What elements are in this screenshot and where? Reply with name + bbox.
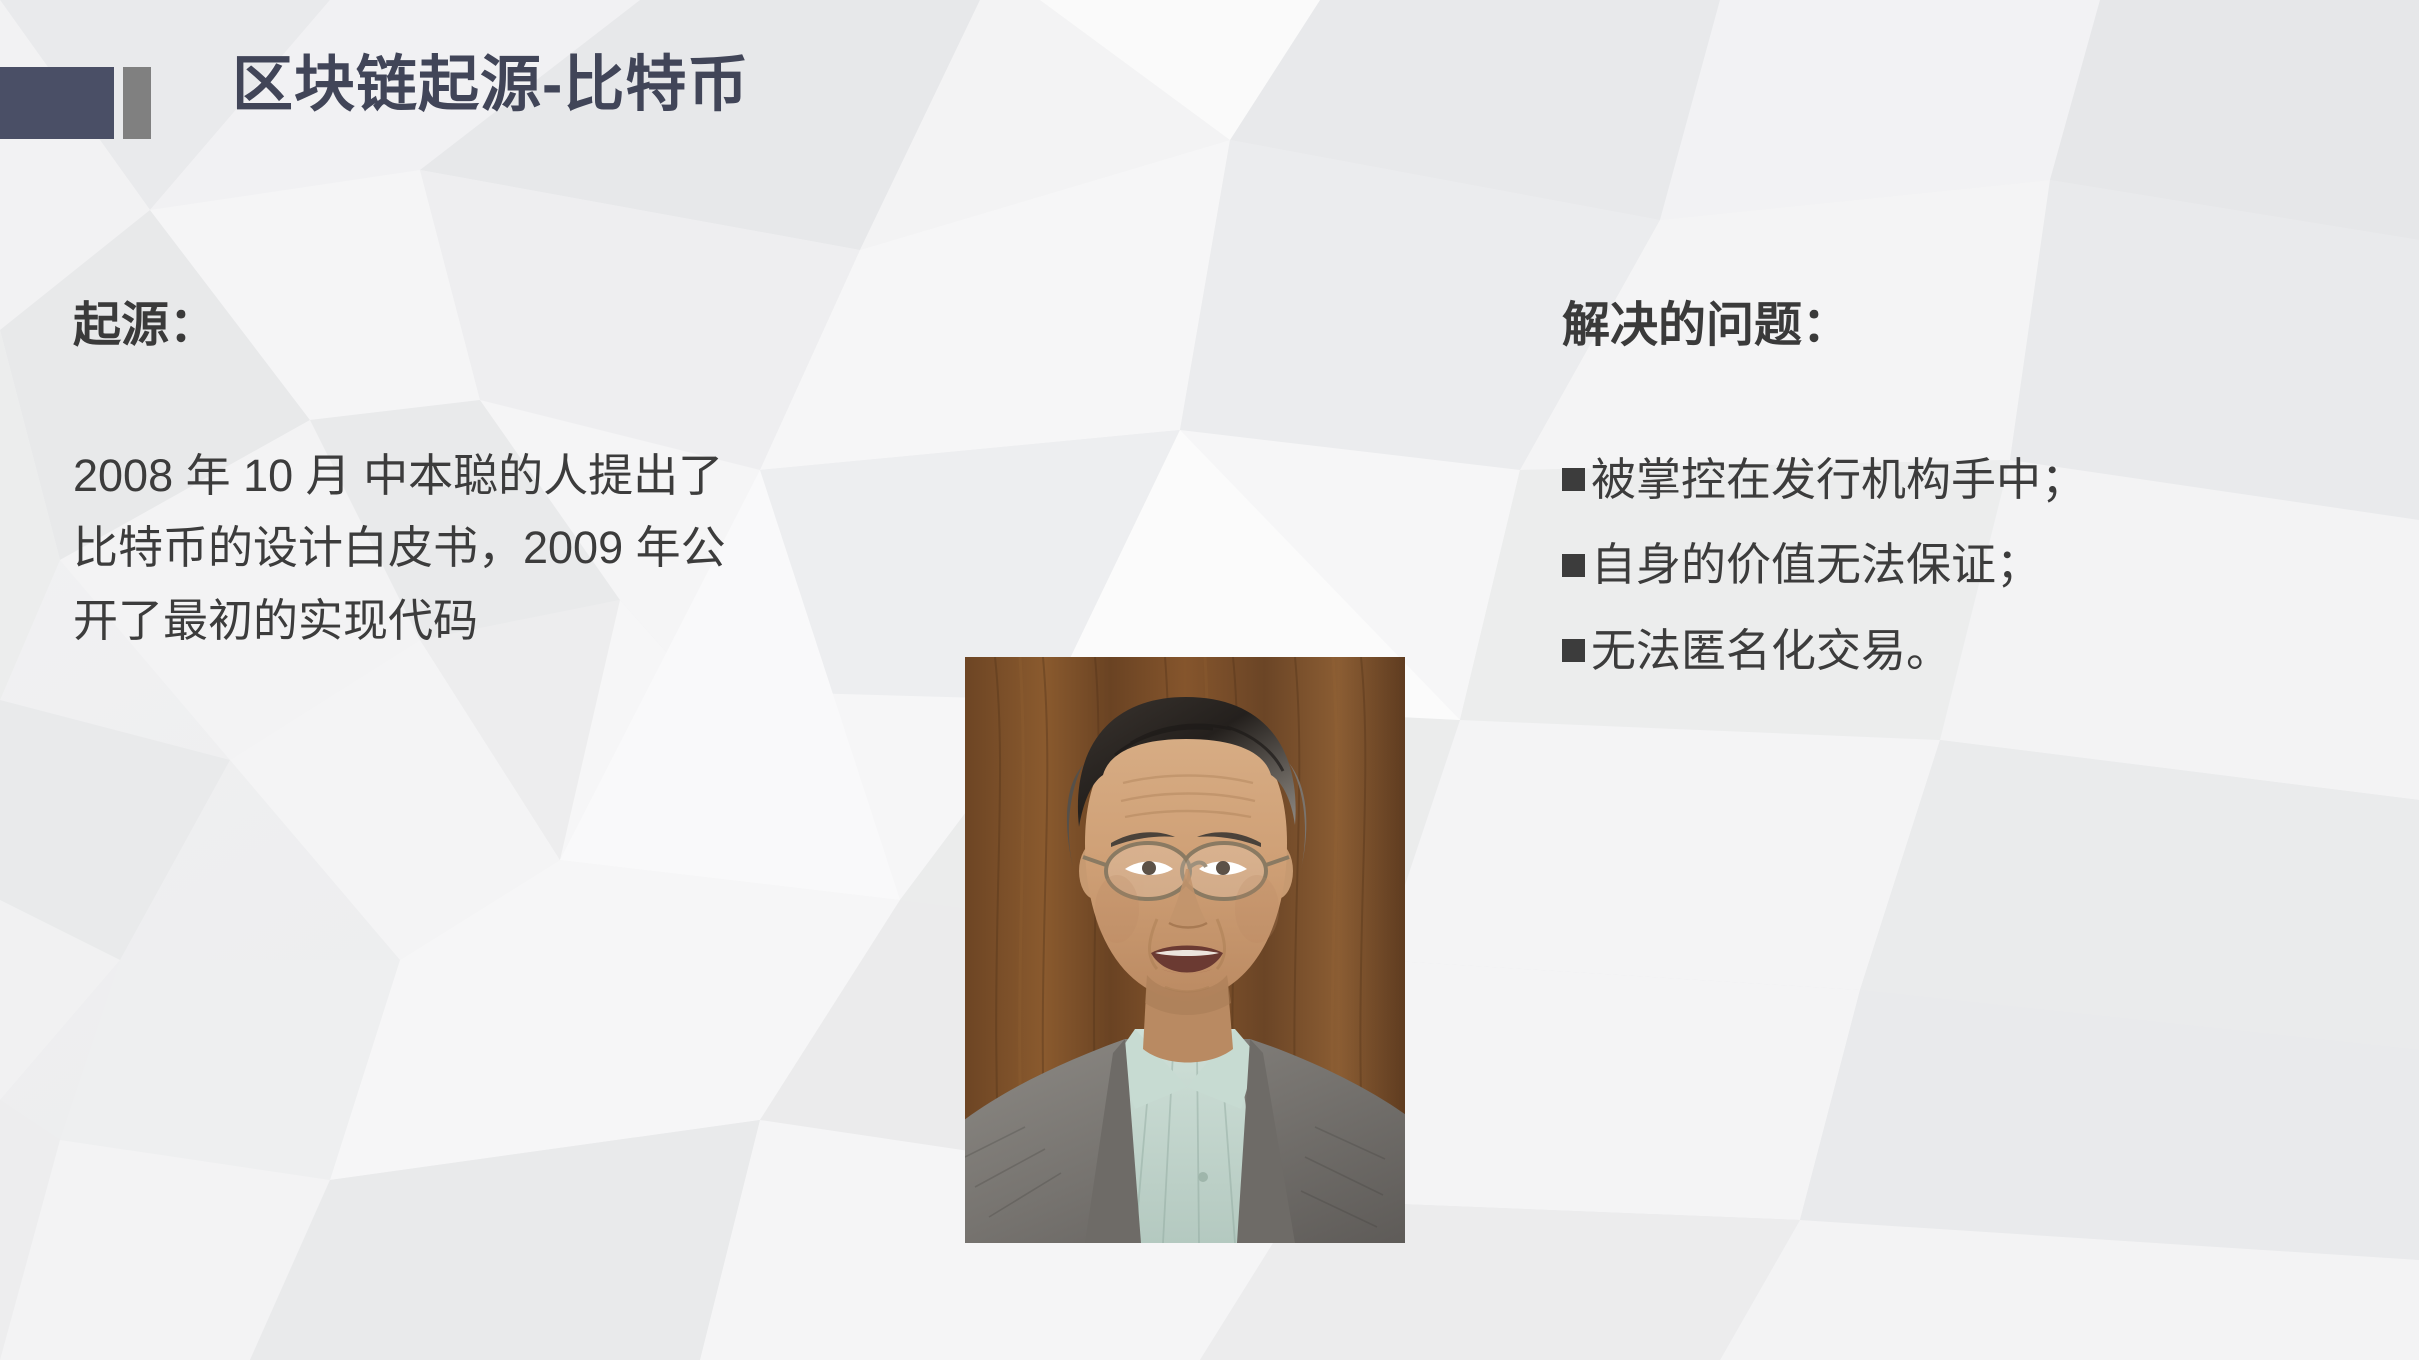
presentation-slide: 区块链起源-比特币 起源： 2008 年 10 月 中本聪的人提出了 比特币的设… [0,0,2419,1360]
list-item-label: 无法匿名化交易。 [1591,616,1951,686]
list-item: 自身的价值无法保证； [1562,530,2382,600]
square-bullet-icon [1562,468,1585,491]
square-bullet-icon [1562,639,1585,662]
origin-paragraph-line: 2008 年 10 月 中本聪的人提出了 [73,440,873,513]
origin-paragraph: 2008 年 10 月 中本聪的人提出了 比特币的设计白皮书，2009 年公 开… [73,440,873,659]
list-item: 被掌控在发行机构手中； [1562,445,2382,515]
origin-paragraph-line: 比特币的设计白皮书，2009 年公 [73,512,873,585]
portrait-photo-image [965,657,1405,1243]
list-item-label: 自身的价值无法保证； [1591,530,2041,600]
list-item-label: 被掌控在发行机构手中； [1591,445,2086,515]
problems-list: 被掌控在发行机构手中； 自身的价值无法保证； 无法匿名化交易。 [1562,445,2382,686]
title-accent-gray-bar [123,67,151,139]
title-accent-navy-block [0,67,114,139]
origin-section: 起源： 2008 年 10 月 中本聪的人提出了 比特币的设计白皮书，2009 … [73,297,873,658]
origin-heading: 起源： [73,297,873,355]
problems-section: 解决的问题： 被掌控在发行机构手中； 自身的价值无法保证； 无法匿名化交易。 [1562,297,2382,702]
title-accent-gap [114,67,123,139]
problems-heading: 解决的问题： [1562,297,2382,355]
page-title: 区块链起源-比特币 [232,48,749,121]
square-bullet-icon [1562,554,1585,577]
origin-paragraph-line: 开了最初的实现代码 [73,585,873,658]
portrait-photo [965,657,1405,1243]
list-item: 无法匿名化交易。 [1562,616,2382,686]
title-decoration [0,67,151,139]
